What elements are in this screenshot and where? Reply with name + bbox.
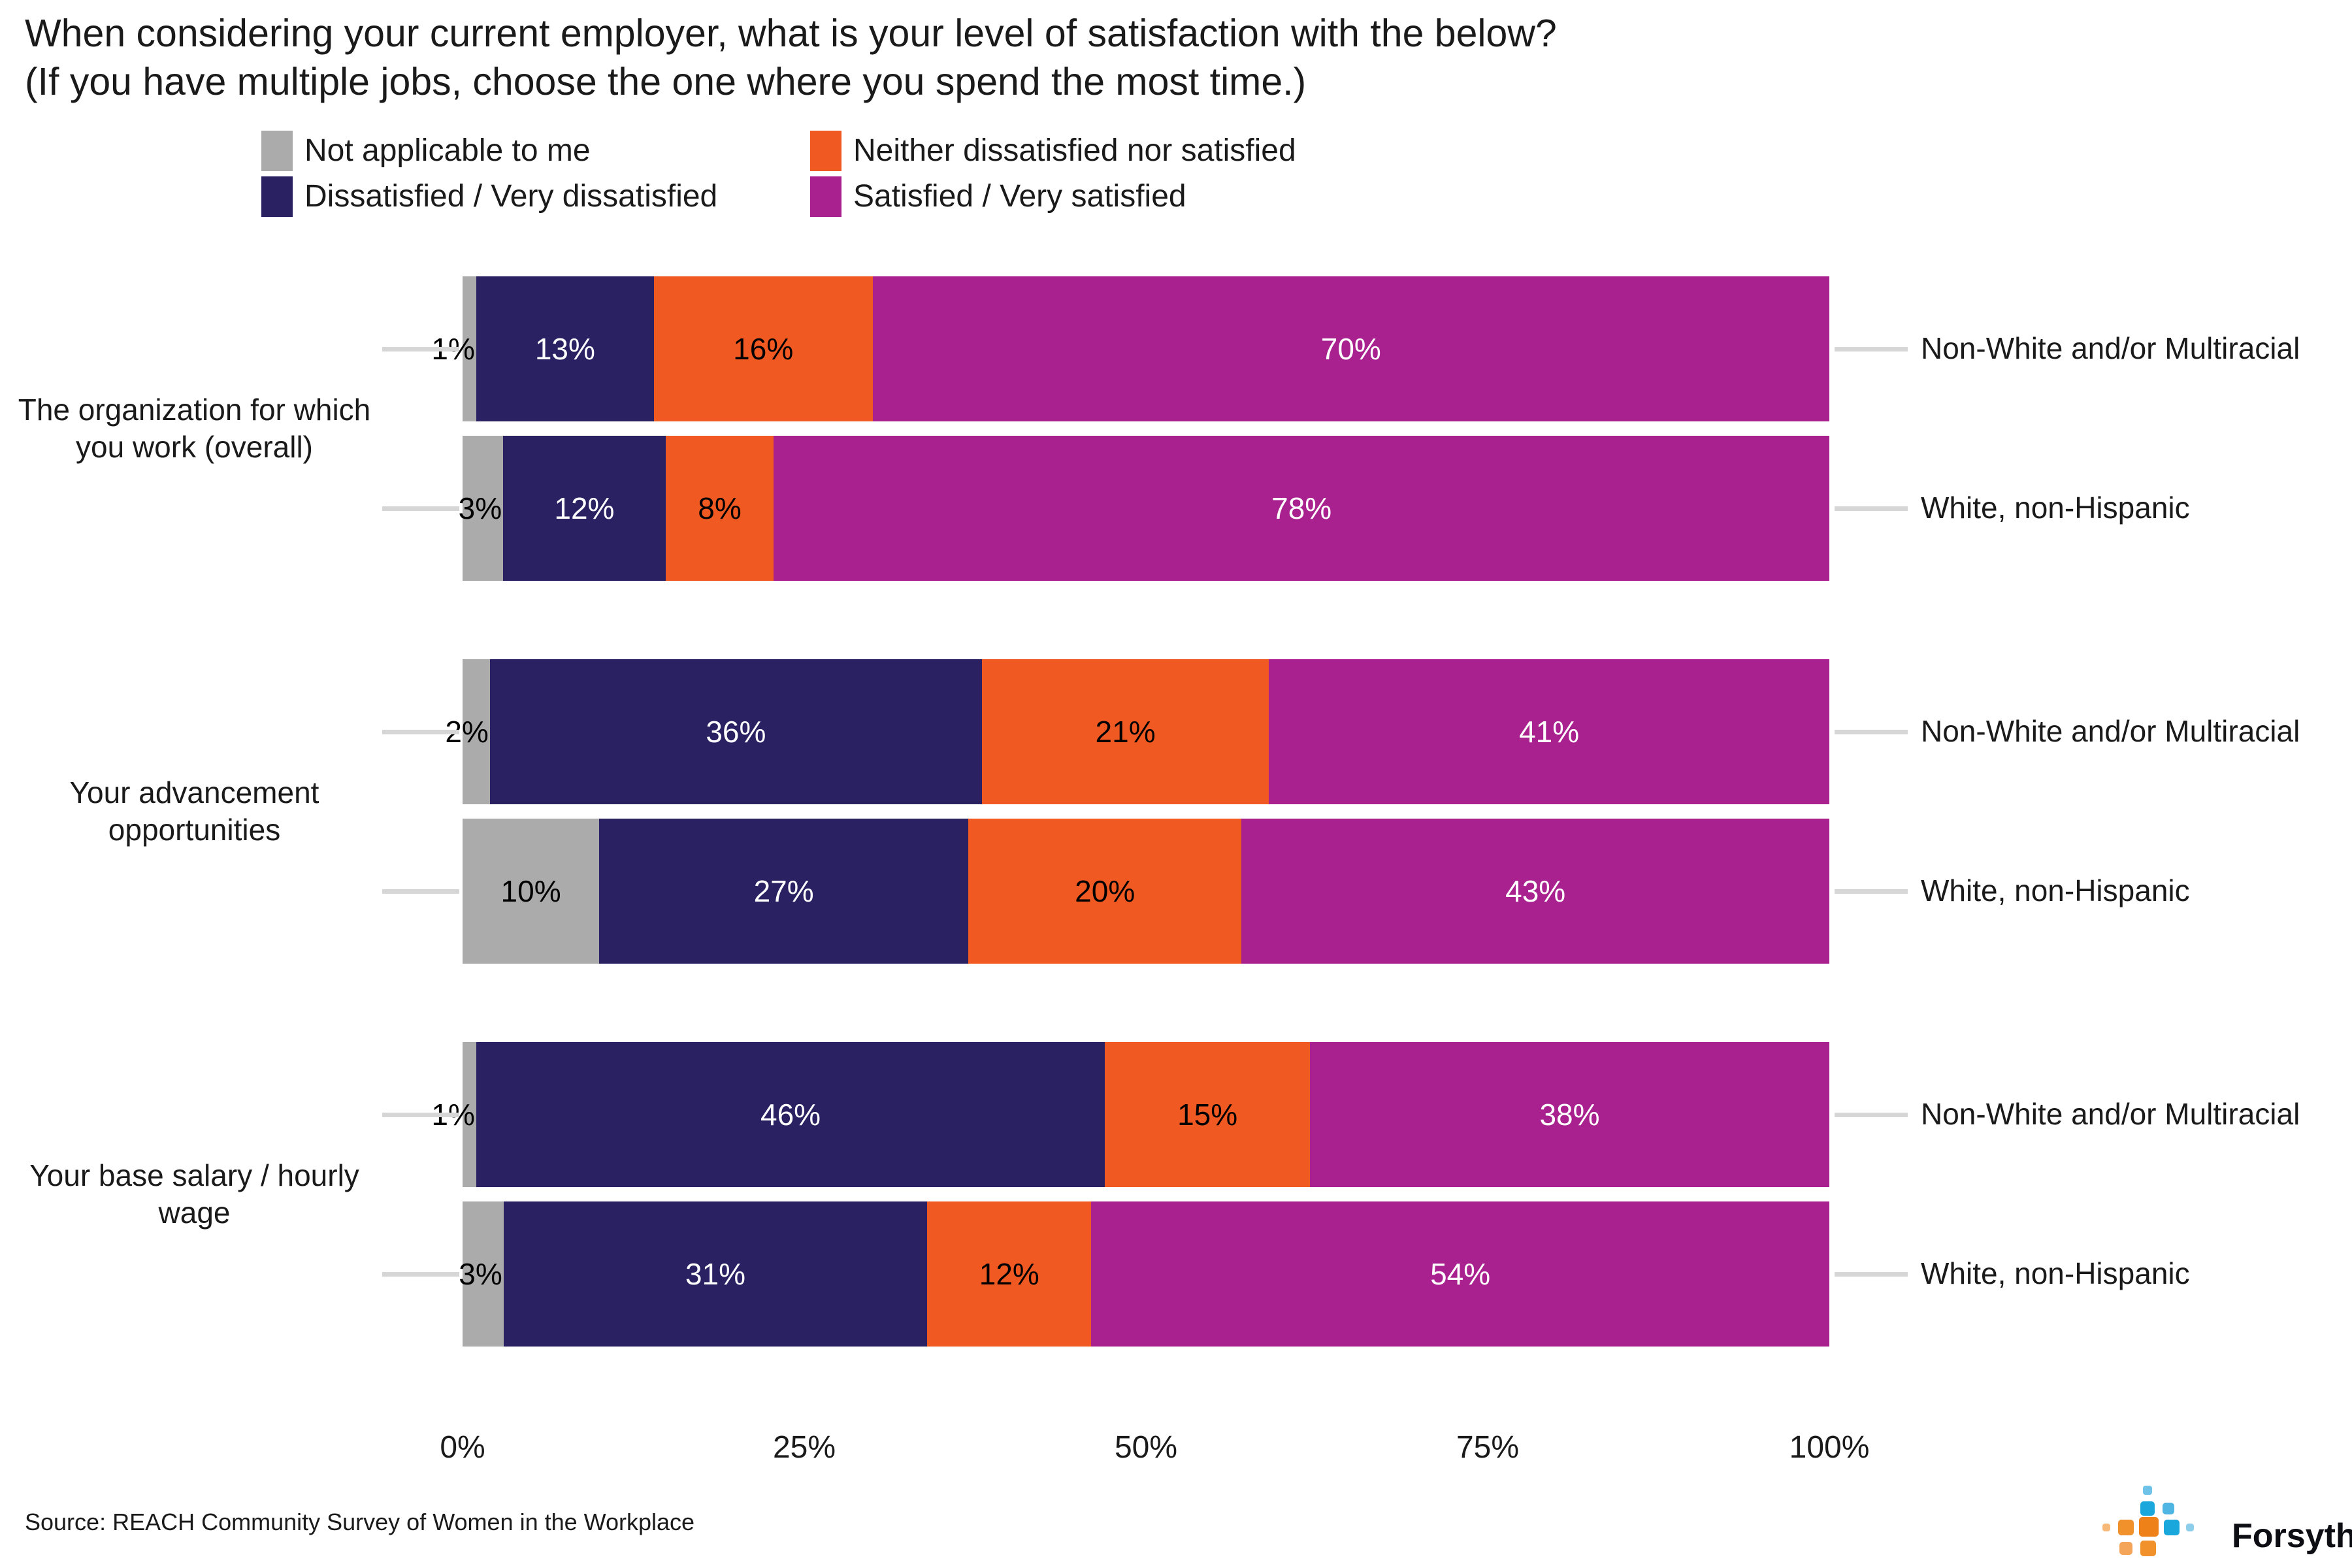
bar-segment-value-label: 36%	[706, 717, 766, 747]
bar-segment-value-label: 3%	[459, 493, 502, 523]
bar-segment[interactable]: 21%	[982, 659, 1269, 804]
series-leader-line	[1835, 1113, 1908, 1117]
category-leader-line	[382, 347, 459, 351]
bar-segment[interactable]: 10%	[463, 819, 599, 964]
x-axis-tick-label: 50%	[1115, 1431, 1177, 1465]
bar-segment[interactable]: 31%	[504, 1201, 928, 1347]
bar-segment[interactable]: 54%	[1091, 1201, 1829, 1347]
bar-segment[interactable]: 12%	[927, 1201, 1091, 1347]
category-label-line: you work (overall)	[13, 429, 376, 466]
bar-segment-value-label: 41%	[1519, 717, 1579, 747]
bar-segment[interactable]: 36%	[490, 659, 982, 804]
category-leader-line	[382, 1272, 459, 1277]
category-leader-line	[382, 1113, 459, 1117]
bar-segment[interactable]: 3%	[463, 1201, 504, 1347]
bar-segment[interactable]: 38%	[1310, 1042, 1829, 1187]
x-axis-tick-label: 100%	[1789, 1431, 1870, 1465]
series-label: Non-White and/or Multiracial	[1921, 716, 2300, 746]
bar-segment[interactable]: 16%	[654, 276, 873, 421]
bar-segment[interactable]: 70%	[873, 276, 1829, 421]
bar-segment[interactable]: 13%	[476, 276, 654, 421]
bar-segment-value-label: 16%	[733, 334, 793, 364]
bar-segment[interactable]: 27%	[599, 819, 968, 964]
bar-segment[interactable]: 43%	[1241, 819, 1829, 964]
bar-segment-value-label: 13%	[535, 334, 595, 364]
bar-segment-value-label: 12%	[554, 493, 614, 523]
category-label-line: Your advancement	[13, 774, 376, 811]
bar-segment-value-label: 21%	[1096, 717, 1156, 747]
bar-row[interactable]: 10%27%20%43%	[463, 819, 1829, 964]
source-note: Source: REACH Community Survey of Women …	[25, 1508, 694, 1537]
category-label: Your advancementopportunities	[13, 774, 376, 849]
bar-segment-value-label: 54%	[1430, 1259, 1490, 1289]
bar-segment[interactable]: 2%	[463, 659, 490, 804]
forsyth-futures-logo-icon	[2078, 1480, 2228, 1559]
bar-segment-value-label: 20%	[1075, 876, 1135, 906]
brand-name: Forsyth Futures	[2232, 1517, 2352, 1555]
bar-row[interactable]: 3%31%12%54%	[463, 1201, 1829, 1347]
series-leader-line	[1835, 1272, 1908, 1277]
x-axis-tick-label: 0%	[440, 1431, 485, 1465]
bar-segment-value-label: 15%	[1177, 1100, 1237, 1130]
category-label-line: opportunities	[13, 811, 376, 849]
bar-segment-value-label: 8%	[698, 493, 741, 523]
series-label: White, non-Hispanic	[1921, 493, 2190, 523]
bar-segment-value-label: 12%	[979, 1259, 1039, 1289]
series-leader-line	[1835, 506, 1908, 511]
category-label: Your base salary / hourlywage	[13, 1157, 376, 1232]
series-label: Non-White and/or Multiracial	[1921, 333, 2300, 363]
bar-row[interactable]: 3%12%8%78%	[463, 436, 1829, 581]
category-label-line: The organization for which	[13, 391, 376, 429]
bar-row[interactable]: 2%36%21%41%	[463, 659, 1829, 804]
chart-plot-area: 1%13%16%70%Non-White and/or Multiracial3…	[0, 0, 2352, 1568]
bar-row[interactable]: 1%13%16%70%	[463, 276, 1829, 421]
bar-segment-value-label: 78%	[1271, 493, 1331, 523]
bar-segment[interactable]: 41%	[1269, 659, 1829, 804]
bar-segment-value-label: 70%	[1321, 334, 1381, 364]
series-label: Non-White and/or Multiracial	[1921, 1099, 2300, 1129]
category-leader-line	[382, 889, 459, 894]
bar-segment-value-label: 38%	[1539, 1100, 1599, 1130]
series-leader-line	[1835, 347, 1908, 351]
bar-segment-value-label: 3%	[459, 1259, 502, 1289]
bar-segment[interactable]: 20%	[968, 819, 1241, 964]
bar-segment[interactable]: 15%	[1105, 1042, 1310, 1187]
x-axis-tick-label: 75%	[1456, 1431, 1519, 1465]
category-leader-line	[382, 506, 459, 511]
bar-segment[interactable]: 12%	[503, 436, 666, 581]
category-label-line: wage	[13, 1194, 376, 1232]
bar-segment-value-label: 10%	[501, 876, 561, 906]
category-label-line: Your base salary / hourly	[13, 1157, 376, 1194]
bar-segment-value-label: 43%	[1505, 876, 1565, 906]
bar-row[interactable]: 1%46%15%38%	[463, 1042, 1829, 1187]
series-label: White, non-Hispanic	[1921, 1258, 2190, 1288]
bar-segment-value-label: 27%	[754, 876, 814, 906]
brand-logo: Forsyth Futures	[2078, 1480, 2352, 1559]
bar-segment-value-label: 31%	[685, 1259, 745, 1289]
bar-segment[interactable]: 3%	[463, 436, 503, 581]
category-label: The organization for whichyou work (over…	[13, 391, 376, 466]
bar-segment[interactable]: 1%	[463, 1042, 476, 1187]
bar-segment[interactable]: 78%	[774, 436, 1829, 581]
bar-segment[interactable]: 1%	[463, 276, 476, 421]
bar-segment[interactable]: 46%	[476, 1042, 1105, 1187]
x-axis-tick-label: 25%	[773, 1431, 836, 1465]
series-leader-line	[1835, 889, 1908, 894]
bar-segment[interactable]: 8%	[666, 436, 774, 581]
category-leader-line	[382, 730, 459, 734]
series-leader-line	[1835, 730, 1908, 734]
series-label: White, non-Hispanic	[1921, 875, 2190, 906]
bar-segment-value-label: 46%	[760, 1100, 821, 1130]
